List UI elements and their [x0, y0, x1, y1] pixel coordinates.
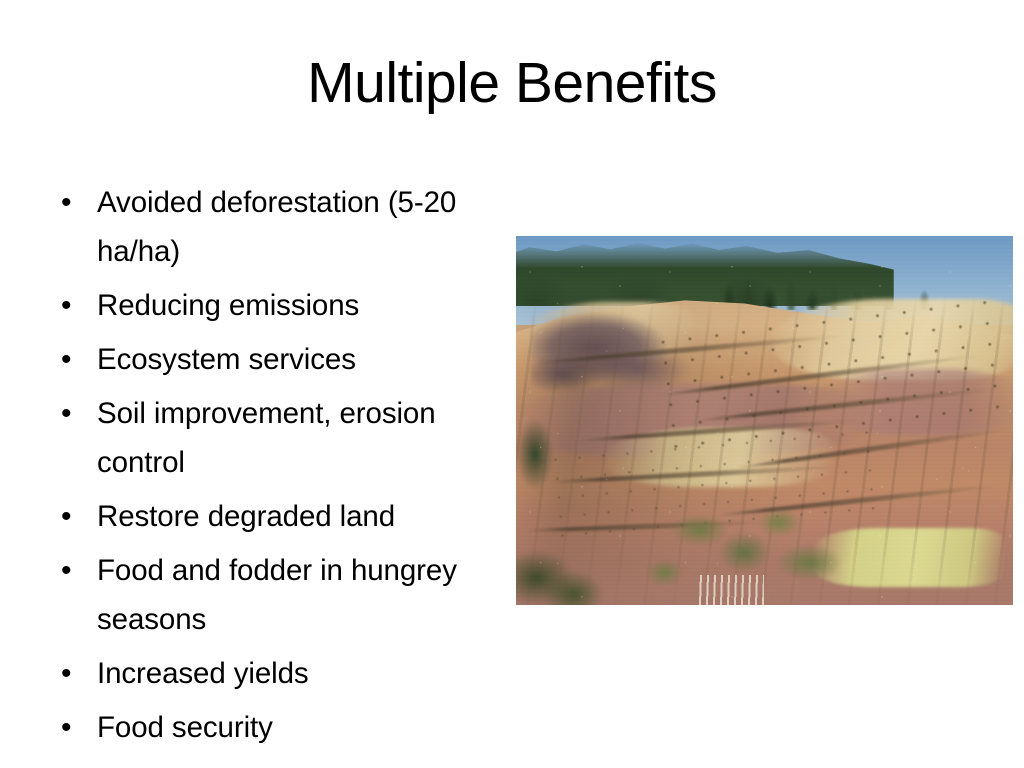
- bullet-text: Avoided deforestation (5-20 ha/ha): [97, 178, 505, 276]
- bullet-list: • Avoided deforestation (5-20 ha/ha) • R…: [55, 178, 505, 757]
- bullet-item: • Ecosystem services: [55, 335, 505, 384]
- slide-title: Multiple Benefits: [0, 52, 1024, 116]
- bullet-point-icon: •: [55, 703, 97, 752]
- degraded-hillside-photo: [516, 236, 1013, 605]
- bullet-text: Reducing emissions: [97, 281, 505, 330]
- photo-canvas: [516, 236, 1013, 605]
- bullet-item: • Food security: [55, 703, 505, 752]
- bullet-item: • Soil improvement, erosion control: [55, 389, 505, 487]
- bullet-point-icon: •: [55, 649, 97, 698]
- bullet-item: • Reducing emissions: [55, 281, 505, 330]
- bullet-item: • Restore degraded land: [55, 492, 505, 541]
- bullet-point-icon: •: [55, 281, 97, 330]
- bullet-point-icon: •: [55, 335, 97, 384]
- bullet-item: • Food and fodder in hungrey seasons: [55, 546, 505, 644]
- bullet-point-icon: •: [55, 389, 97, 438]
- bullet-point-icon: •: [55, 492, 97, 541]
- bullet-text: Increased yields: [97, 649, 505, 698]
- bullet-point-icon: •: [55, 546, 97, 595]
- bullet-text: Food security: [97, 703, 505, 752]
- bullet-text: Restore degraded land: [97, 492, 505, 541]
- bullet-point-icon: •: [55, 178, 97, 227]
- bullet-text: Food and fodder in hungrey seasons: [97, 546, 505, 644]
- bullet-text: Soil improvement, erosion control: [97, 389, 505, 487]
- slide: Multiple Benefits • Avoided deforestatio…: [0, 0, 1024, 768]
- photo-grain-overlay: [516, 236, 1013, 605]
- bullet-item: • Avoided deforestation (5-20 ha/ha): [55, 178, 505, 276]
- bullet-text: Ecosystem services: [97, 335, 505, 384]
- bullet-item: • Increased yields: [55, 649, 505, 698]
